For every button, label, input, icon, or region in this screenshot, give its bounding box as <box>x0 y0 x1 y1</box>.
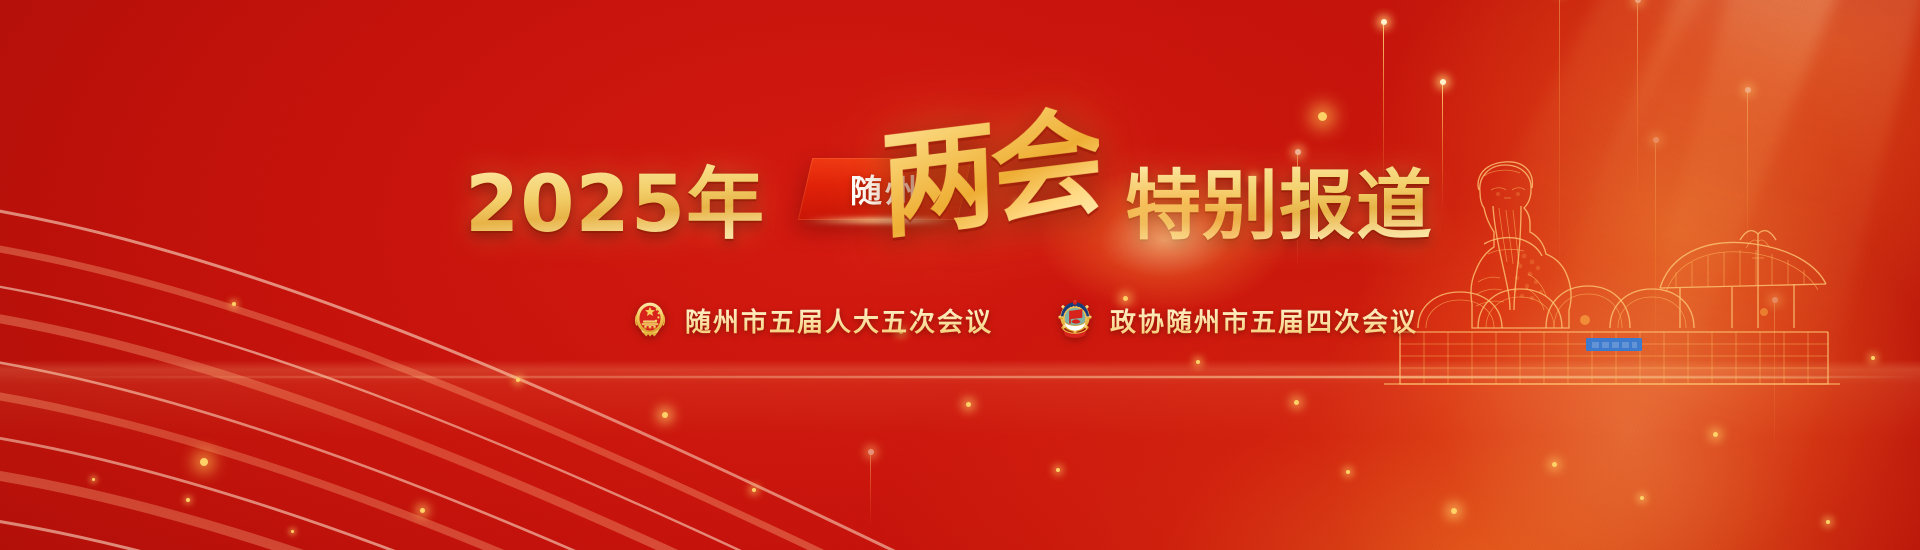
spark <box>1640 496 1644 500</box>
meeting-item-npc: 随州市五届人大五次会议 <box>628 298 993 342</box>
title-year: 2025年 <box>465 142 765 254</box>
spark <box>516 378 520 382</box>
meeting-label-npc: 随州市五届人大五次会议 <box>685 302 993 339</box>
cppcc-emblem-icon <box>1053 298 1097 342</box>
spark <box>1294 400 1299 405</box>
spark <box>291 530 294 533</box>
light-ray-2 <box>1471 0 1785 283</box>
spark <box>1713 432 1718 437</box>
spark <box>200 458 208 466</box>
two-sessions-banner: 2025年 随州 两会 特别报道 <box>0 0 1920 550</box>
spark <box>186 498 190 502</box>
title-calligraphy-lianghui: 两会 <box>878 66 1102 261</box>
spark <box>1196 360 1200 364</box>
spark <box>1552 462 1557 467</box>
spark <box>966 402 971 407</box>
spark <box>662 412 668 418</box>
spark <box>1318 112 1327 121</box>
horizon-line <box>0 376 1920 378</box>
title-suffix: 特别报道 <box>1125 144 1433 254</box>
meeting-item-cppcc: 政协随州市五届四次会议 <box>1053 298 1418 342</box>
meeting-label-cppcc: 政协随州市五届四次会议 <box>1110 302 1418 339</box>
top-right-flare <box>1240 0 1920 550</box>
spark <box>1451 508 1457 514</box>
light-streak-8 <box>870 452 871 526</box>
left-ribbon-swoosh <box>0 0 1090 550</box>
spark <box>1826 520 1830 524</box>
spark <box>92 478 95 481</box>
light-ray-3 <box>1618 0 1920 485</box>
meetings-row: 随州市五届人大五次会议 <box>0 298 1920 342</box>
banner-title: 2025年 随州 两会 特别报道 <box>0 148 1920 240</box>
spark <box>752 488 756 492</box>
spark <box>1056 468 1060 472</box>
national-emblem-icon <box>628 298 672 342</box>
spark <box>1871 356 1875 360</box>
spark <box>420 508 425 513</box>
horizon-glow <box>0 360 1920 550</box>
spark <box>1346 470 1350 474</box>
